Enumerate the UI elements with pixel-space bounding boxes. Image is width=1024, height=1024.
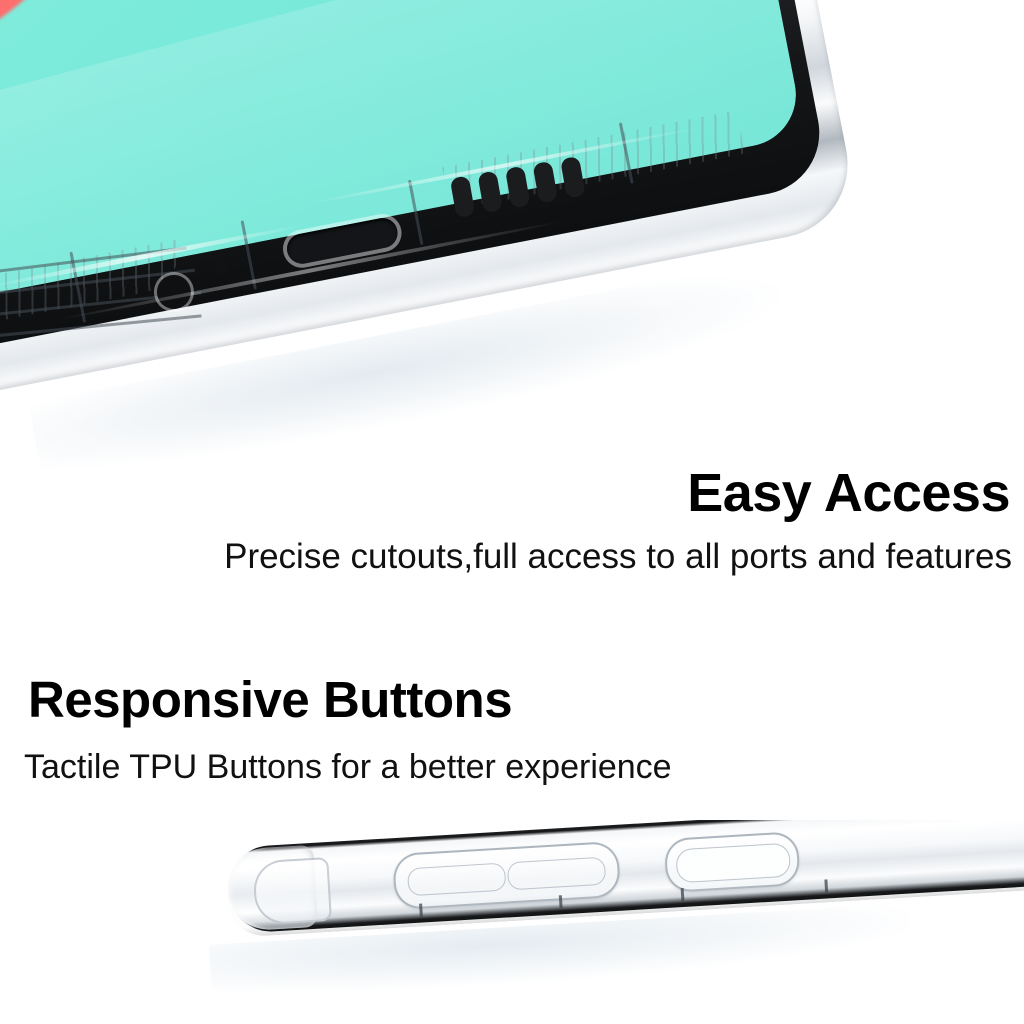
power-button-inner [675,843,791,884]
power-button-cover [664,831,801,893]
easy-access-subtitle: Precise cutouts,full access to all ports… [224,539,1012,574]
volume-down-button [507,857,606,891]
speaker-slot [560,156,586,199]
product-feature-image: Easy Access Precise cutouts,full access … [0,0,1024,1024]
responsive-buttons-heading: Responsive Buttons [28,674,512,725]
easy-access-heading: Easy Access [687,466,1010,520]
phone-bottom-edge-photo [0,0,1024,470]
speaker-slot [477,171,503,214]
case-corner-endcap-inner [252,857,332,925]
speaker-slot [532,161,558,204]
case-side-profile-photo [0,820,1024,1024]
volume-up-button [407,863,506,897]
responsive-buttons-subtitle: Tactile TPU Buttons for a better experie… [24,750,672,784]
speaker-slot [505,166,531,209]
